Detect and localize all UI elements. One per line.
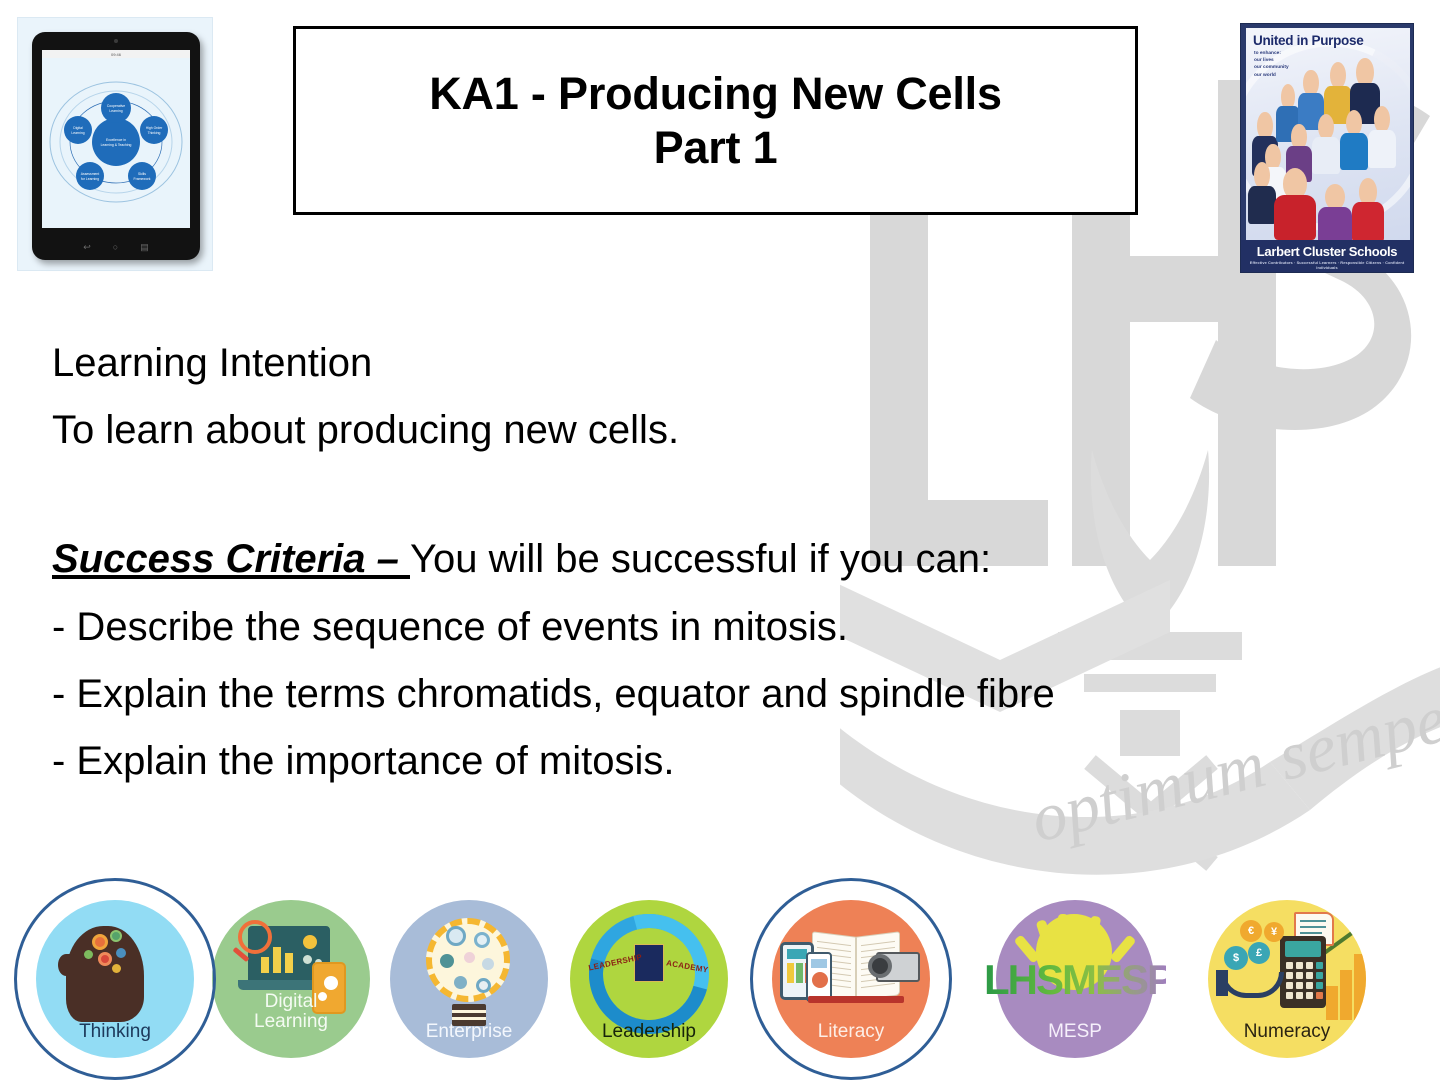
poster-footer: Larbert Cluster Schools Effective Contri… xyxy=(1241,240,1413,272)
page-title-line-2: Part 1 xyxy=(654,121,778,174)
svg-text:Thinking: Thinking xyxy=(148,131,161,135)
svg-text:Digital: Digital xyxy=(73,126,83,130)
laptop-chart-icon xyxy=(212,900,370,1058)
tablet-status-time: 09:46 xyxy=(111,52,121,57)
mesp-wordmark: LHSMESP xyxy=(984,956,1166,1004)
tablet-screen: 09:46 Excellence in Learning & Teaching … xyxy=(42,50,190,228)
success-criteria-heading: Success Criteria – xyxy=(52,537,410,581)
slide-title-box: KA1 - Producing New Cells Part 1 xyxy=(293,26,1138,215)
criterion-2: - Explain the terms chromatids, equator … xyxy=(52,661,1392,728)
svg-text:Learning: Learning xyxy=(109,109,122,113)
icon-literacy[interactable]: Literacy xyxy=(772,900,930,1058)
icon-thinking[interactable]: Thinking xyxy=(36,900,194,1058)
criterion-3: - Explain the importance of mitosis. xyxy=(52,728,1392,795)
criterion-1: - Describe the sequence of events in mit… xyxy=(52,594,1392,661)
tablet-image: 09:46 Excellence in Learning & Teaching … xyxy=(17,17,213,271)
tablet-statusbar: 09:46 xyxy=(42,50,190,58)
svg-text:Assessment: Assessment xyxy=(81,172,100,176)
page-title-line-1: KA1 - Producing New Cells xyxy=(429,67,1002,120)
success-criteria-heading-line: Success Criteria – You will be successfu… xyxy=(52,526,1392,593)
icon-numeracy[interactable]: $ £ € ¥ Numeracy xyxy=(1208,900,1366,1058)
back-icon: ↩ xyxy=(83,242,91,253)
larbert-cluster-poster: United in Purpose to enhance: our lives … xyxy=(1240,23,1414,273)
literacy-highlight-ring xyxy=(750,878,952,1080)
svg-text:Framework: Framework xyxy=(134,177,151,181)
icon-label-enterprise: Enterprise xyxy=(390,1022,548,1042)
icon-label-digital-learning: Digital Learning xyxy=(212,992,370,1032)
icon-mesp[interactable]: LHSMESP MESP xyxy=(996,900,1154,1058)
tablet-device: 09:46 Excellence in Learning & Teaching … xyxy=(32,32,200,260)
svg-text:for Learning: for Learning xyxy=(81,177,99,181)
svg-text:Excellence in: Excellence in xyxy=(106,138,126,142)
tablet-camera-icon xyxy=(114,39,118,43)
tablet-learning-diagram: Excellence in Learning & Teaching Cooper… xyxy=(42,58,190,228)
poster-pupils-photo xyxy=(1246,58,1410,240)
learning-intention-heading-line: Learning Intention xyxy=(52,330,1392,397)
recents-icon: ▤ xyxy=(140,242,149,253)
curriculum-icon-row: Thinking Di xyxy=(0,878,1440,1080)
learning-intention-text: To learn about producing new cells. xyxy=(52,397,1392,464)
home-icon: ○ xyxy=(113,242,118,252)
coin-yen: ¥ xyxy=(1264,922,1284,942)
icon-label-numeracy: Numeracy xyxy=(1208,1022,1366,1042)
svg-text:Cooperative: Cooperative xyxy=(107,104,125,108)
thinking-highlight-ring xyxy=(14,878,216,1080)
coin-dollar: $ xyxy=(1224,946,1248,970)
icon-label-mesp: MESP xyxy=(996,1022,1154,1042)
coin-euro: € xyxy=(1240,920,1262,942)
poster-artwork: United in Purpose to enhance: our lives … xyxy=(1246,28,1410,270)
slide-body: Learning Intention To learn about produc… xyxy=(52,330,1392,795)
spacer xyxy=(52,464,1392,526)
digital-learning-circle xyxy=(212,900,370,1058)
icon-digital-learning[interactable]: Digital Learning xyxy=(212,900,370,1058)
tablet-nav-bar: ↩ ○ ▤ xyxy=(32,238,200,256)
svg-text:High Order: High Order xyxy=(146,126,163,130)
svg-text:Learning: Learning xyxy=(71,131,84,135)
poster-footer-title: Larbert Cluster Schools xyxy=(1241,244,1413,259)
icon-leadership[interactable]: LEADERSHIP ACADEMY Leadership xyxy=(570,900,728,1058)
poster-title: United in Purpose xyxy=(1253,33,1363,48)
svg-text:Skills: Skills xyxy=(138,172,146,176)
icon-label-leadership: Leadership xyxy=(570,1022,728,1042)
coin-pound: £ xyxy=(1248,942,1270,964)
icon-enterprise[interactable]: Enterprise xyxy=(390,900,548,1058)
poster-footer-subtitle: Effective Contributors · Successful Lear… xyxy=(1241,260,1413,270)
success-criteria-lead: You will be successful if you can: xyxy=(410,537,991,581)
svg-text:Learning & Teaching: Learning & Teaching xyxy=(101,143,132,147)
learning-intention-heading: Learning Intention xyxy=(52,341,372,385)
